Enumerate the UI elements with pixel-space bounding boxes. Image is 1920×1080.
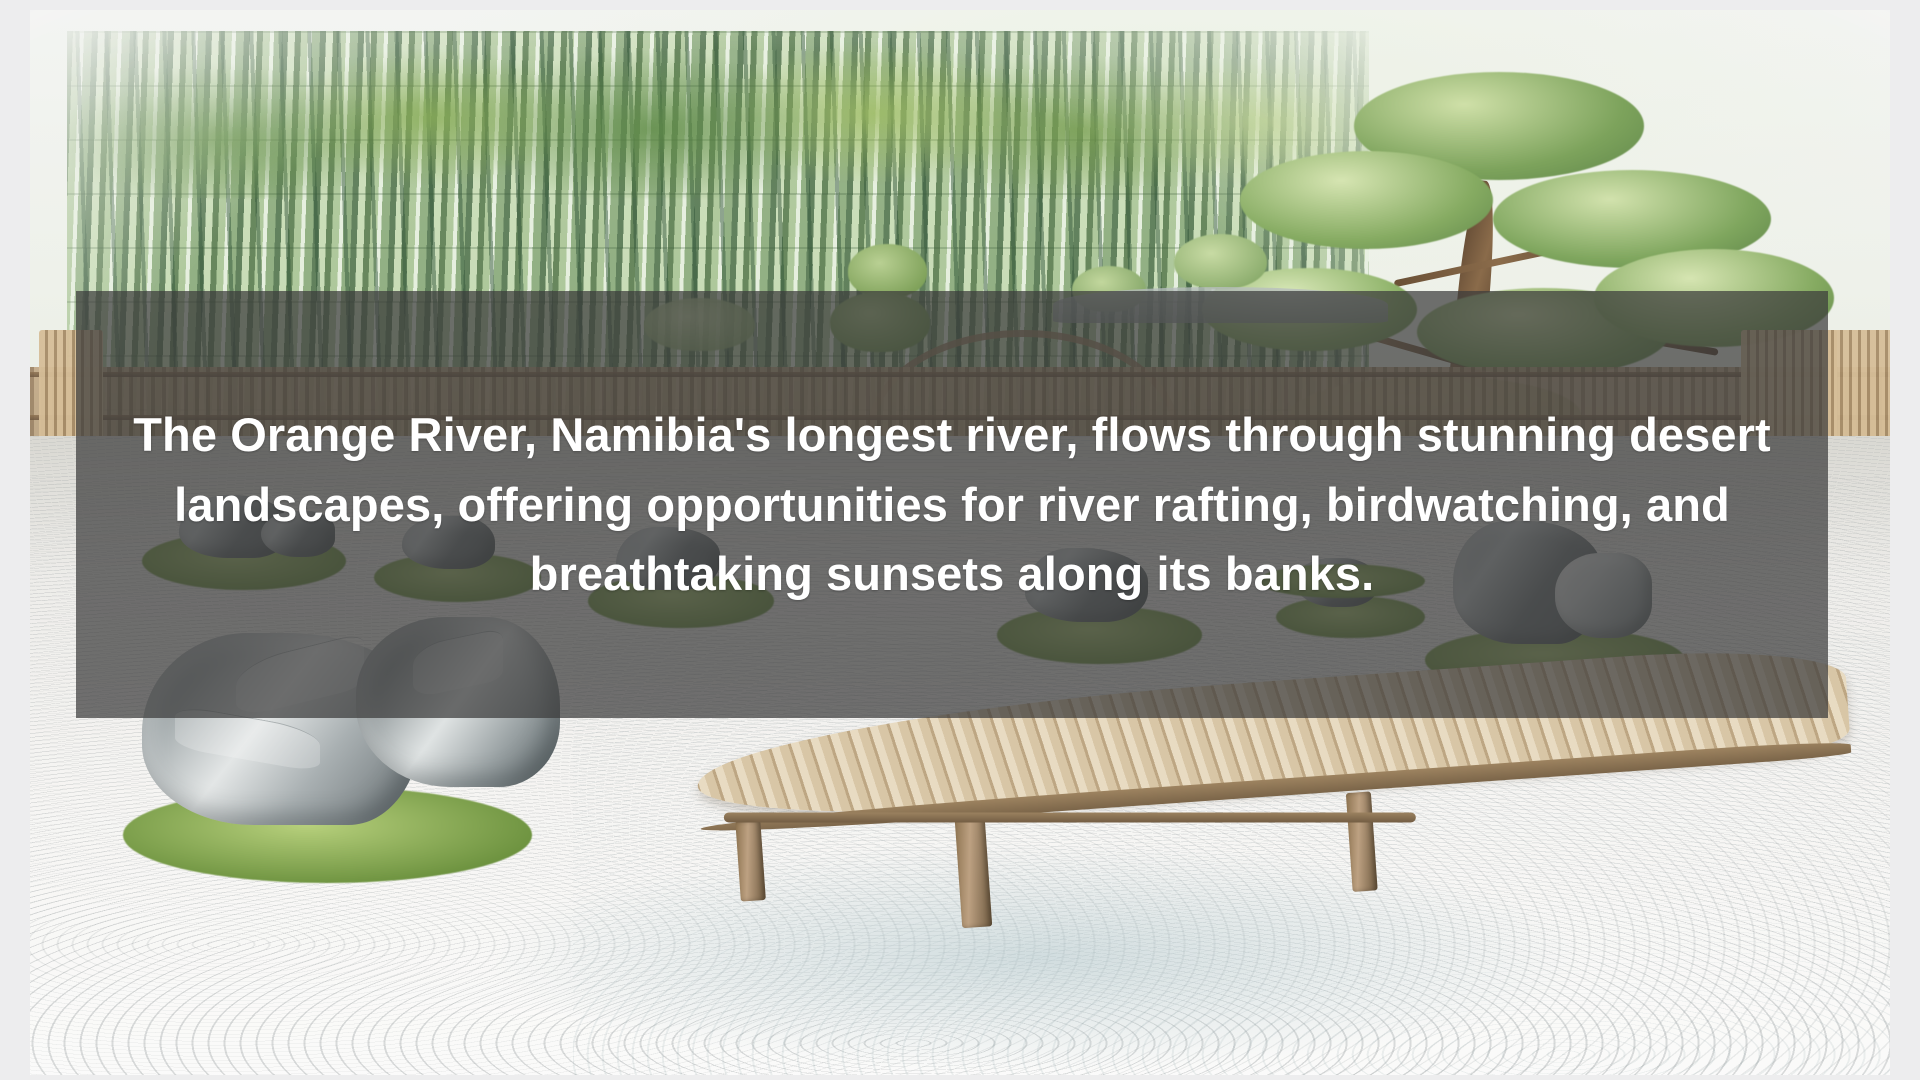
bridge-post: [1345, 791, 1377, 891]
caption-text: The Orange River, Namibia's longest rive…: [132, 400, 1772, 609]
pine-foliage-pad: [1240, 151, 1493, 249]
topiary-shrub: [1174, 234, 1267, 289]
screenshot-root: The Orange River, Namibia's longest rive…: [0, 0, 1920, 1080]
bridge-post: [954, 814, 992, 928]
bridge-stringer: [724, 813, 1416, 823]
bridge-post: [735, 820, 766, 901]
topiary-shrub: [848, 244, 926, 297]
caption-overlay-band: The Orange River, Namibia's longest rive…: [76, 291, 1828, 718]
bamboo-canopy: [67, 31, 1369, 198]
